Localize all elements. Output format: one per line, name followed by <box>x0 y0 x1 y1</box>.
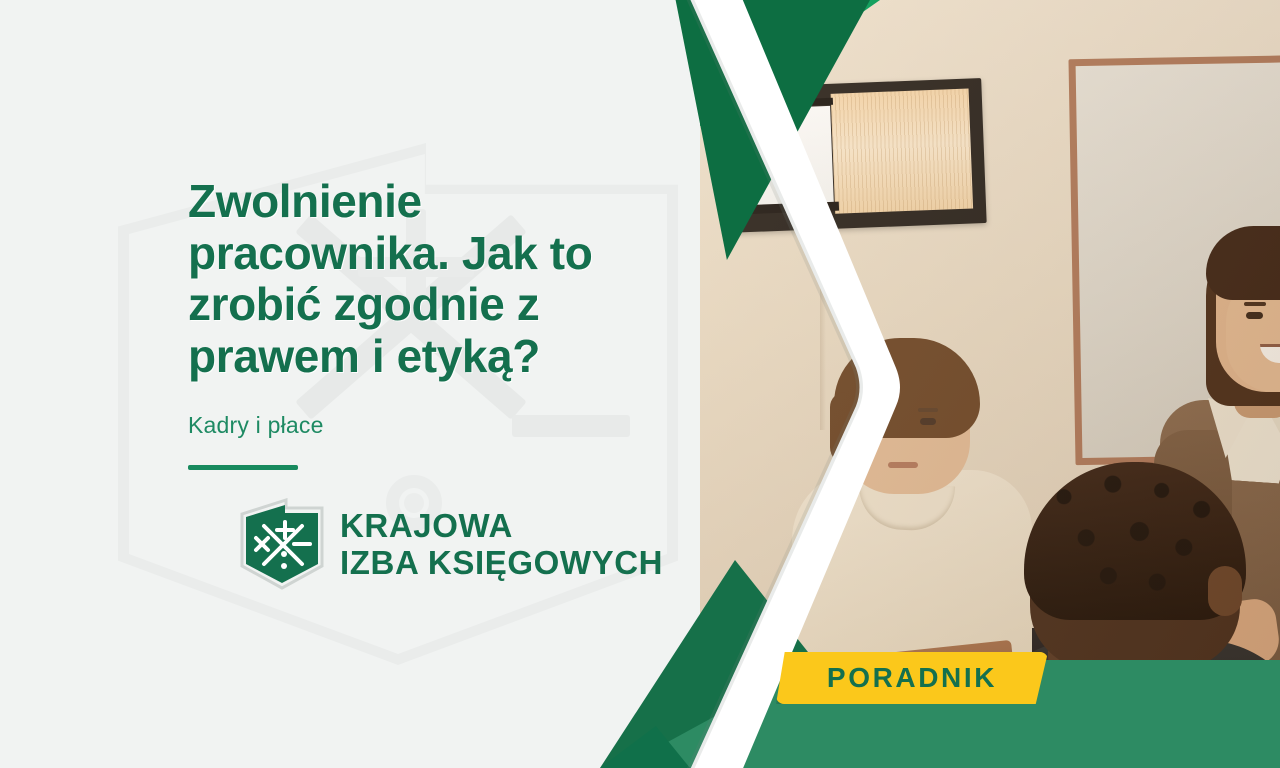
title-divider <box>188 465 298 470</box>
brand-logo-line1: KRAJOWA <box>340 509 663 542</box>
brand-logo-text: KRAJOWA IZBA KSIĘGOWYCH <box>340 509 663 579</box>
status-badge-label: PORADNIK <box>827 662 997 694</box>
page-title: Zwolnienie pracownika. Jak to zrobić zgo… <box>188 176 658 382</box>
status-badge[interactable]: PORADNIK <box>776 652 1048 704</box>
brand-logo-line2: IZBA KSIĘGOWYCH <box>340 546 663 579</box>
headline-block: Zwolnienie pracownika. Jak to zrobić zgo… <box>188 176 658 470</box>
shield-math-symbols-icon <box>240 498 324 590</box>
article-banner: Zwolnienie pracownika. Jak to zrobić zgo… <box>0 0 1280 768</box>
brand-logo[interactable]: KRAJOWA IZBA KSIĘGOWYCH <box>240 498 663 590</box>
category-label: Kadry i płace <box>188 412 658 439</box>
